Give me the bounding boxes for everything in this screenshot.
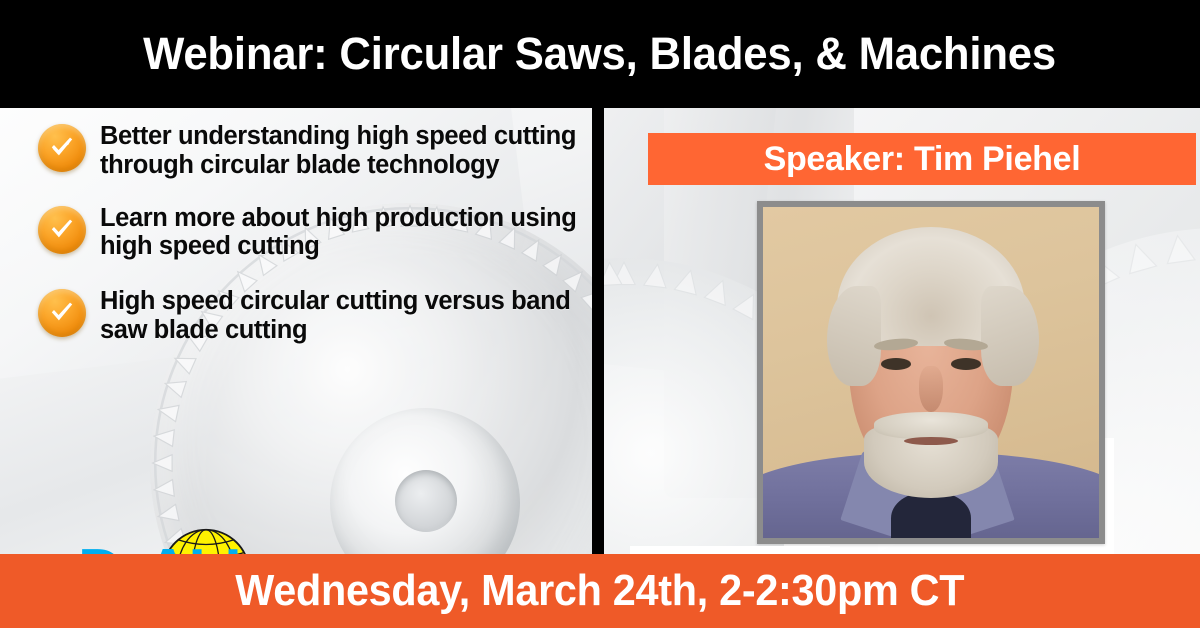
photo-bottom-strip: [630, 546, 830, 554]
benefits-list: Better understanding high speed cutting …: [38, 122, 583, 345]
content-area: Better understanding high speed cutting …: [0, 108, 1200, 554]
speaker-banner: Speaker: Tim Piehel: [648, 133, 1196, 185]
photo-nose: [919, 366, 943, 412]
page-title: Webinar: Circular Saws, Blades, & Machin…: [144, 28, 1057, 80]
logo-wordmark-text: DoALL: [78, 541, 260, 554]
right-panel: Speaker: Tim Piehel: [604, 108, 1200, 554]
left-panel: Better understanding high speed cutting …: [0, 108, 592, 554]
check-circle-icon: [38, 124, 86, 172]
list-item-label: High speed circular cutting versus band …: [100, 287, 583, 345]
webinar-promo-banner: Webinar: Circular Saws, Blades, & Machin…: [0, 0, 1200, 628]
list-item-label: Learn more about high production using h…: [100, 204, 583, 262]
header-bar: Webinar: Circular Saws, Blades, & Machin…: [0, 0, 1200, 108]
photo-eye-right: [951, 358, 981, 370]
logo-letters-all: ALL: [146, 537, 261, 554]
list-item: Learn more about high production using h…: [38, 204, 583, 262]
photo-moustache: [874, 412, 988, 438]
logo-letter-d: D: [78, 537, 121, 554]
date-bar: Wednesday, March 24th, 2-2:30pm CT: [0, 554, 1200, 628]
speaker-photo: [757, 201, 1105, 544]
list-item: High speed circular cutting versus band …: [38, 287, 583, 345]
doall-logo: DoALL SAWING PRODUCTS: [20, 525, 360, 554]
photo-undershirt: [891, 492, 972, 538]
speaker-photo-image: [763, 207, 1099, 538]
speaker-banner-label: Speaker: Tim Piehel: [764, 140, 1081, 179]
photo-mouth: [904, 437, 958, 445]
panel-divider: [592, 108, 604, 554]
logo-wordmark-group: DoALL: [78, 525, 338, 554]
list-item-label: Better understanding high speed cutting …: [100, 122, 583, 180]
photo-eye-left: [881, 358, 911, 370]
blade-bore-graphic: [395, 470, 457, 532]
photo-hair-left: [827, 286, 881, 385]
list-item: Better understanding high speed cutting …: [38, 122, 583, 180]
photo-hair-right: [981, 286, 1038, 385]
check-circle-icon: [38, 289, 86, 337]
date-text: Wednesday, March 24th, 2-2:30pm CT: [235, 566, 964, 616]
check-circle-icon: [38, 206, 86, 254]
